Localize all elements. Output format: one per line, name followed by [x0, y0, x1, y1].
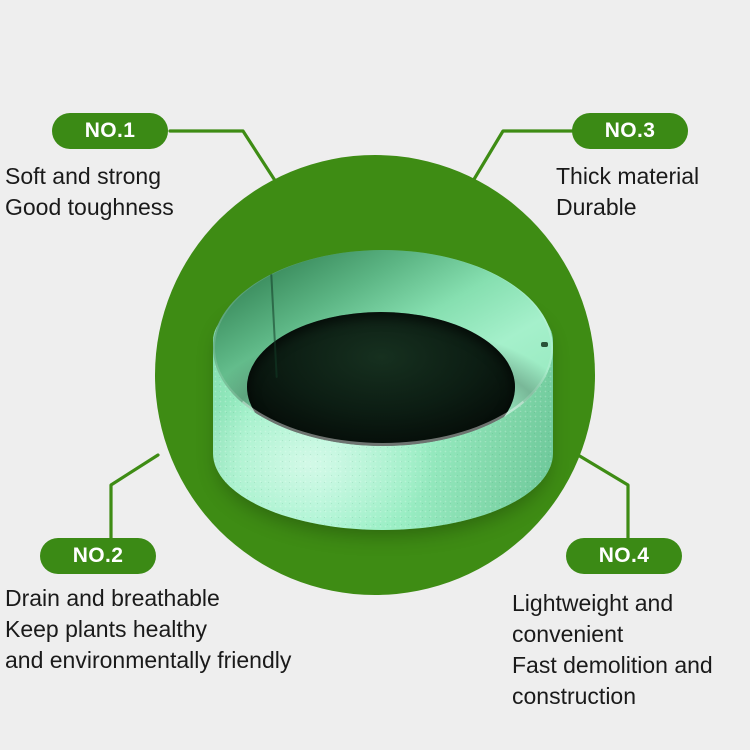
- feature-text-2: Drain and breathable Keep plants healthy…: [5, 583, 291, 676]
- connector-line-2: [111, 455, 158, 538]
- feature-badge-3: NO.3: [572, 113, 688, 149]
- feature-badge-2: NO.2: [40, 538, 156, 574]
- feature-badge-4: NO.4: [566, 538, 682, 574]
- feature-text-4: Lightweight and convenient Fast demoliti…: [512, 588, 713, 712]
- connector-line-4: [578, 455, 628, 538]
- product-image-grow-bag: [205, 248, 561, 540]
- grow-bag-rim: [213, 250, 553, 446]
- grow-bag-tag: [541, 342, 548, 347]
- feature-badge-1: NO.1: [52, 113, 168, 149]
- feature-text-3: Thick material Durable: [556, 161, 699, 223]
- product-infographic: NO.1 Soft and strong Good toughness NO.3…: [0, 0, 750, 750]
- feature-text-1: Soft and strong Good toughness: [5, 161, 174, 223]
